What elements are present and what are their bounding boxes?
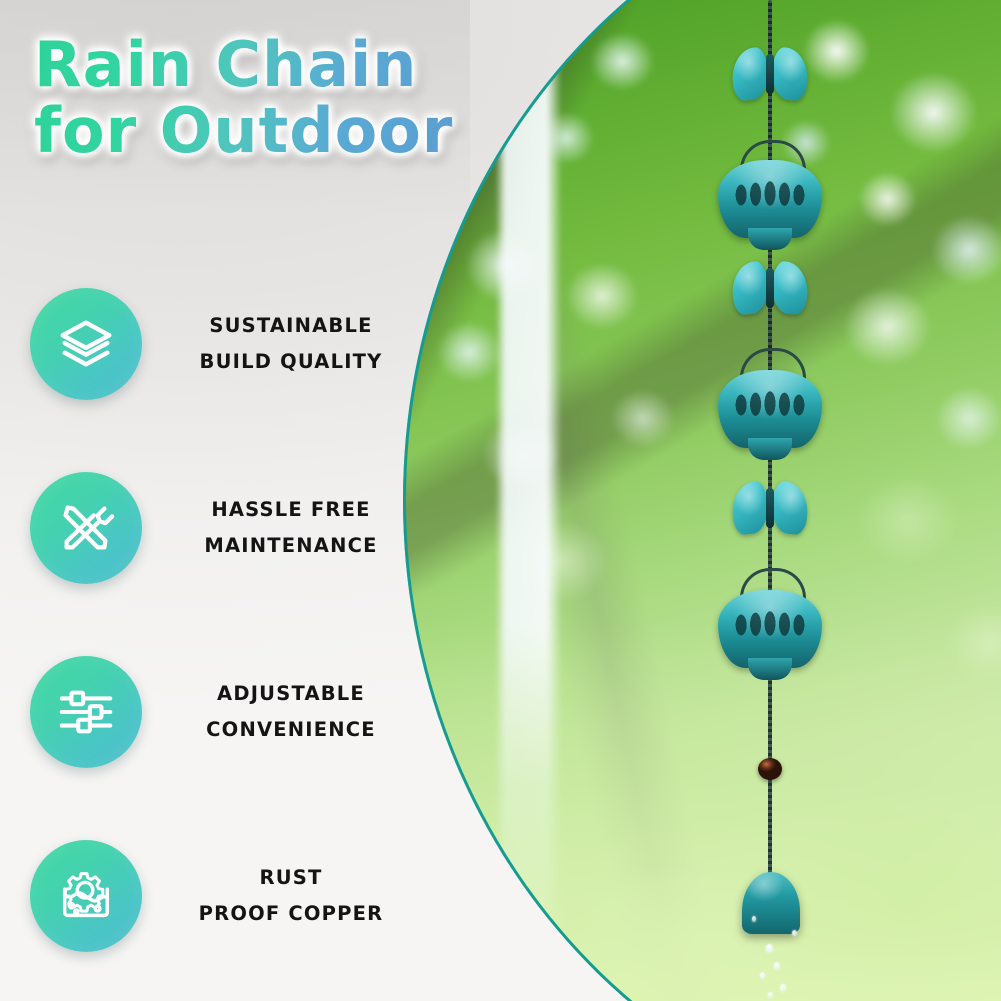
butterfly-ornament <box>732 482 808 536</box>
amber-bead <box>758 758 782 780</box>
feature-item-rust-proof-copper: RUST PROOF COPPER <box>30 804 430 988</box>
water-droplet <box>760 972 765 979</box>
butterfly-body <box>766 54 774 94</box>
layers-icon <box>55 313 117 375</box>
tools-icon <box>55 497 117 559</box>
infographic-canvas: Rain Chain for Outdoor SUSTAINABLE BUILD… <box>0 0 1001 1001</box>
water-droplet <box>792 930 797 936</box>
feature-icon-badge <box>30 472 142 584</box>
feature-label-line-1: RUST <box>152 860 430 896</box>
flower-cup <box>718 590 822 668</box>
flower-cup <box>718 370 822 448</box>
butterfly-wing-right <box>769 46 810 101</box>
butterfly-wing-left <box>729 480 770 535</box>
feature-icon-badge <box>30 288 142 400</box>
sliders-icon <box>55 681 117 743</box>
title-line-2: for Outdoor <box>34 98 454 164</box>
butterfly-body <box>766 268 774 308</box>
water-droplet <box>774 962 780 970</box>
butterfly-wing-right <box>769 480 810 535</box>
feature-label: ADJUSTABLE CONVENIENCE <box>142 676 430 748</box>
feature-label: RUST PROOF COPPER <box>142 860 430 932</box>
butterfly-ornament <box>732 262 808 316</box>
feature-label-line-2: MAINTENANCE <box>152 528 430 564</box>
butterfly-ornament <box>732 48 808 102</box>
feature-label-line-1: HASSLE FREE <box>152 492 430 528</box>
feature-label-line-2: BUILD QUALITY <box>152 344 430 380</box>
feature-icon-badge <box>30 656 142 768</box>
feature-label-line-2: PROOF COPPER <box>152 896 430 932</box>
page-title: Rain Chain for Outdoor <box>34 32 454 163</box>
feature-item-hassle-free-maintenance: HASSLE FREE MAINTENANCE <box>30 436 430 620</box>
butterfly-wing-left <box>729 46 770 101</box>
feature-label-line-2: CONVENIENCE <box>152 712 430 748</box>
rain-chain-product <box>700 0 840 1001</box>
water-droplet <box>768 992 773 998</box>
title-line-1: Rain Chain <box>34 32 454 98</box>
feature-label-line-1: ADJUSTABLE <box>152 676 430 712</box>
feature-item-sustainable-build-quality: SUSTAINABLE BUILD QUALITY <box>30 252 430 436</box>
flower-cup <box>718 160 822 238</box>
water-droplet <box>780 984 786 992</box>
feature-icon-badge <box>30 840 142 952</box>
butterfly-wing-right <box>769 260 810 315</box>
feature-label: HASSLE FREE MAINTENANCE <box>142 492 430 564</box>
feature-label: SUSTAINABLE BUILD QUALITY <box>142 308 430 380</box>
feature-list: SUSTAINABLE BUILD QUALITY HASSLE FREE MA… <box>30 252 430 988</box>
water-droplet <box>766 944 773 953</box>
butterfly-body <box>766 488 774 528</box>
bell-ornament <box>742 872 800 934</box>
water-droplet <box>752 916 756 922</box>
gear-in-liquid-icon <box>55 865 117 927</box>
feature-item-adjustable-convenience: ADJUSTABLE CONVENIENCE <box>30 620 430 804</box>
butterfly-wing-left <box>729 260 770 315</box>
feature-label-line-1: SUSTAINABLE <box>152 308 430 344</box>
